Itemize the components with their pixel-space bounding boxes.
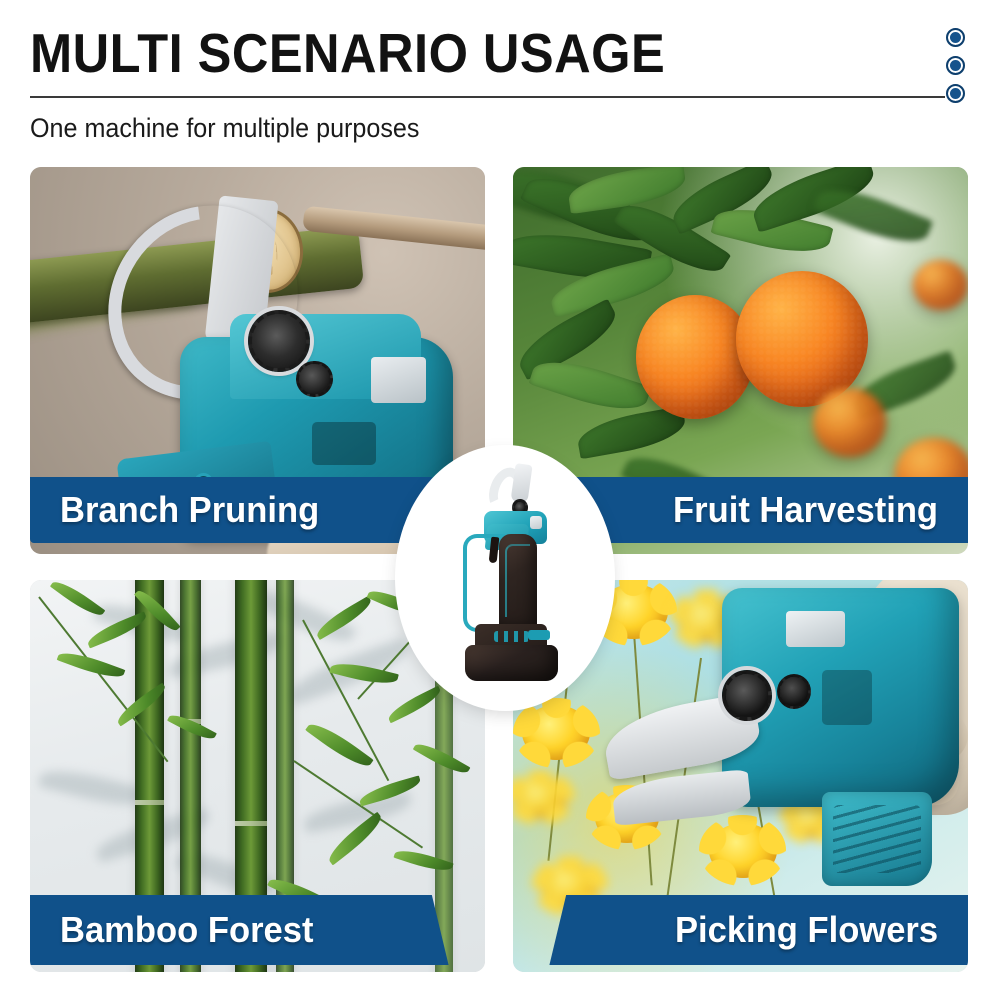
pruner-vent (312, 422, 376, 465)
product-image (399, 449, 611, 707)
bamboo-node (235, 821, 267, 826)
yellow-flower-background (513, 776, 568, 819)
title-divider (30, 96, 945, 98)
scenario-label-text: Branch Pruning (60, 492, 319, 528)
circle-dot-icon (946, 56, 965, 75)
bamboo-node (135, 800, 165, 805)
product-handle (499, 534, 537, 632)
scenario-label-fruit-harvesting: Fruit Harvesting (549, 477, 968, 543)
infographic-page: MULTI SCENARIO USAGE One machine for mul… (0, 0, 1000, 1000)
orange-fruit (736, 271, 868, 406)
gear-small-icon (296, 361, 332, 398)
header: MULTI SCENARIO USAGE One machine for mul… (0, 0, 1000, 160)
center-product-badge[interactable] (399, 449, 611, 707)
product-battery-tab (528, 630, 549, 640)
scenario-label-text: Bamboo Forest (60, 912, 313, 948)
page-title: MULTI SCENARIO USAGE (30, 22, 665, 84)
scenario-label-branch-pruning: Branch Pruning (30, 477, 449, 543)
circle-dot-icon (946, 28, 965, 47)
pruner-display-icon (371, 357, 426, 403)
orange-fruit-background (813, 388, 886, 458)
product-display-icon (530, 516, 542, 529)
scenario-label-text: Picking Flowers (675, 912, 938, 948)
yellow-flower (709, 823, 777, 878)
product-anvil (511, 463, 533, 504)
scenario-label-bamboo-forest: Bamboo Forest (30, 895, 449, 965)
product-battery (465, 645, 558, 681)
scenario-card-branch-pruning[interactable]: Branch Pruning (30, 167, 485, 554)
scenario-label-text: Fruit Harvesting (673, 492, 938, 528)
page-subtitle: One machine for multiple purposes (30, 113, 419, 144)
pruner-vent (822, 670, 872, 725)
pruner-display-icon (786, 611, 845, 646)
yellow-flower (522, 705, 590, 760)
decorative-dots (946, 28, 970, 103)
orange-fruit (636, 295, 754, 419)
orange-fruit-background (913, 260, 968, 310)
circle-dot-icon (946, 84, 965, 103)
gear-icon (248, 310, 309, 372)
pruner-trigger-grip (822, 792, 931, 886)
scenario-label-picking-flowers: Picking Flowers (549, 895, 968, 965)
